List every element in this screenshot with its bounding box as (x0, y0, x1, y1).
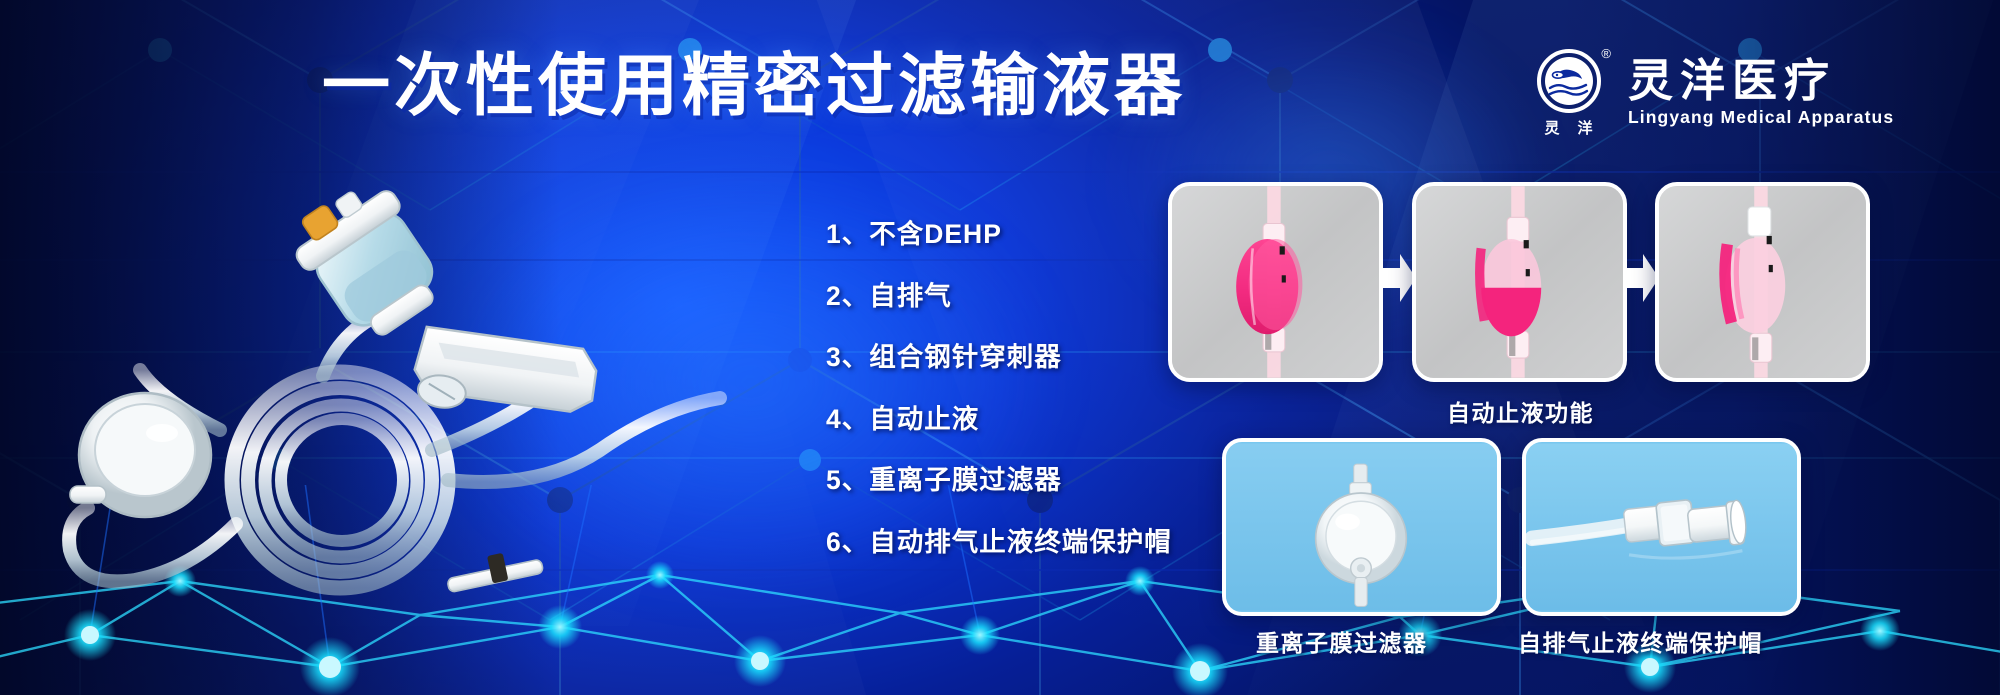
sequence-panel-filter-stopped (1655, 182, 1870, 382)
logo-mark-subtext: 灵 洋 (1544, 117, 1593, 138)
company-name-cn: 灵洋医疗 (1628, 58, 1894, 104)
feature-list: 1、不含DEHP 2、自排气 3、组合钢针穿刺器 4、自动止液 5、重离子膜过滤… (826, 212, 1172, 559)
company-logo: ® 灵 洋 灵洋医疗 Lingyang Medical Apparatus (1528, 48, 1894, 138)
sequence-panel-filter-half (1412, 182, 1627, 382)
product-banner: 一次性使用精密过滤输液器 ® 灵 洋 灵洋医疗 (0, 0, 2000, 695)
feature-item: 1、不含DEHP (826, 212, 1172, 251)
detail-panel-heavy-ion-membrane-filter (1222, 438, 1501, 616)
lingyang-circular-emblem-icon: ® (1536, 48, 1602, 114)
feature-item: 2、自排气 (826, 274, 1172, 313)
detail-caption-cap: 自排气止液终端保护帽 (1518, 624, 1763, 658)
logo-mark: ® 灵 洋 (1528, 48, 1610, 138)
feature-item: 6、自动排气止液终端保护帽 (826, 520, 1172, 559)
product-photo-infusion-set (40, 150, 740, 620)
feature-item: 4、自动止液 (826, 397, 1172, 436)
logo-mark-char-yang: 洋 (1578, 117, 1594, 138)
logo-wordmark: 灵洋医疗 Lingyang Medical Apparatus (1628, 58, 1894, 129)
page-title: 一次性使用精密过滤输液器 (322, 48, 1186, 124)
sequence-caption: 自动止液功能 (1447, 394, 1594, 428)
detail-panel-terminal-protective-cap (1522, 438, 1801, 616)
feature-item: 5、重离子膜过滤器 (826, 458, 1172, 497)
round-filter-component (70, 393, 211, 517)
detail-caption-filter: 重离子膜过滤器 (1256, 624, 1428, 658)
feature-item: 3、组合钢针穿刺器 (826, 335, 1172, 374)
drip-chamber-component (280, 169, 456, 352)
registered-trademark-icon: ® (1601, 47, 1611, 60)
company-name-en: Lingyang Medical Apparatus (1628, 107, 1894, 128)
logo-mark-char-ling: 灵 (1544, 117, 1560, 138)
sequence-panel-filter-full (1168, 182, 1383, 382)
